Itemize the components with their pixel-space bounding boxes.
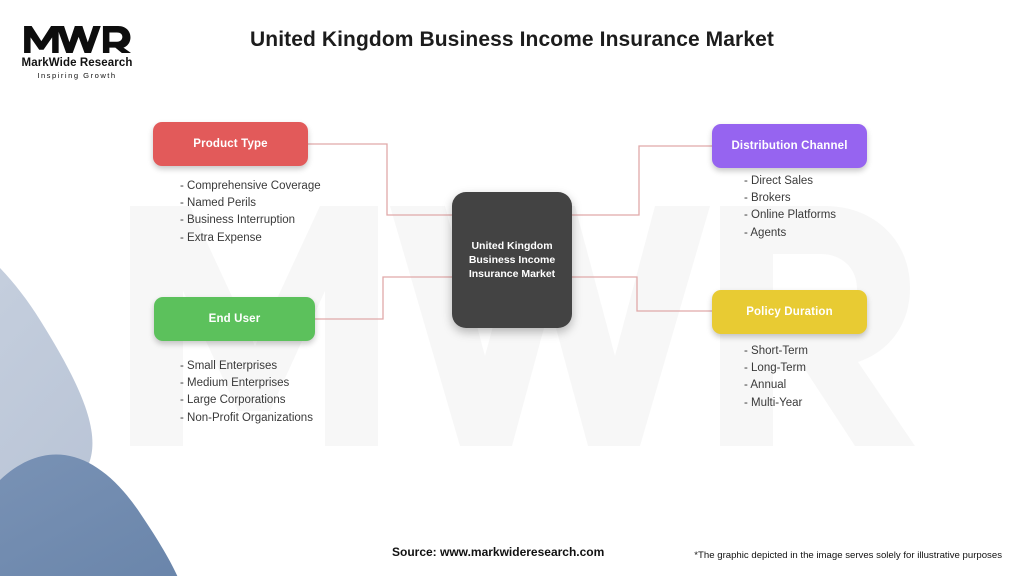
branch-label-product-type: Product Type	[193, 138, 267, 150]
branch-list-policy-duration: - Short-Term - Long-Term - Annual - Mult…	[744, 343, 974, 412]
logo-tagline: Inspiring Growth	[16, 71, 138, 80]
center-node-line-1: United Kingdom	[469, 239, 555, 253]
infographic-canvas: MarkWide Research Inspiring Growth Unite…	[0, 0, 1024, 576]
page-title: United Kingdom Business Income Insurance…	[0, 28, 1024, 52]
list-item: - Multi-Year	[744, 395, 974, 412]
branch-node-end-user[interactable]: End User	[154, 297, 315, 341]
logo-company-name: MarkWide Research	[16, 57, 138, 69]
list-item: - Named Perils	[180, 195, 410, 212]
disclaimer-text: *The graphic depicted in the image serve…	[694, 550, 1002, 561]
branch-label-end-user: End User	[209, 313, 261, 325]
list-item: - Small Enterprises	[180, 358, 430, 375]
branch-node-product-type[interactable]: Product Type	[153, 122, 308, 166]
list-item: - Brokers	[744, 190, 974, 207]
connector-distribution-channel	[572, 146, 712, 215]
list-item: - Online Platforms	[744, 207, 974, 224]
source-label: Source: www.markwideresearch.com	[392, 545, 604, 559]
list-item: - Short-Term	[744, 343, 974, 360]
branch-node-distribution-channel[interactable]: Distribution Channel	[712, 124, 867, 168]
branch-label-policy-duration: Policy Duration	[746, 306, 833, 318]
branch-list-distribution-channel: - Direct Sales - Brokers - Online Platfo…	[744, 173, 974, 242]
list-item: - Comprehensive Coverage	[180, 178, 410, 195]
branch-node-policy-duration[interactable]: Policy Duration	[712, 290, 867, 334]
list-item: - Non-Profit Organizations	[180, 410, 430, 427]
list-item: - Long-Term	[744, 360, 974, 377]
branch-list-product-type: - Comprehensive Coverage - Named Perils …	[180, 178, 410, 247]
connector-policy-duration	[572, 277, 712, 311]
list-item: - Large Corporations	[180, 392, 430, 409]
branch-list-end-user: - Small Enterprises - Medium Enterprises…	[180, 358, 430, 427]
branch-label-distribution-channel: Distribution Channel	[731, 140, 847, 152]
list-item: - Agents	[744, 225, 974, 242]
list-item: - Annual	[744, 377, 974, 394]
list-item: - Extra Expense	[180, 230, 410, 247]
connector-end-user	[315, 277, 452, 319]
center-node-line-3: Insurance Market	[469, 267, 555, 281]
list-item: - Medium Enterprises	[180, 375, 430, 392]
list-item: - Business Interruption	[180, 212, 410, 229]
center-node: United Kingdom Business Income Insurance…	[452, 192, 572, 328]
list-item: - Direct Sales	[744, 173, 974, 190]
center-node-line-2: Business Income	[469, 253, 555, 267]
